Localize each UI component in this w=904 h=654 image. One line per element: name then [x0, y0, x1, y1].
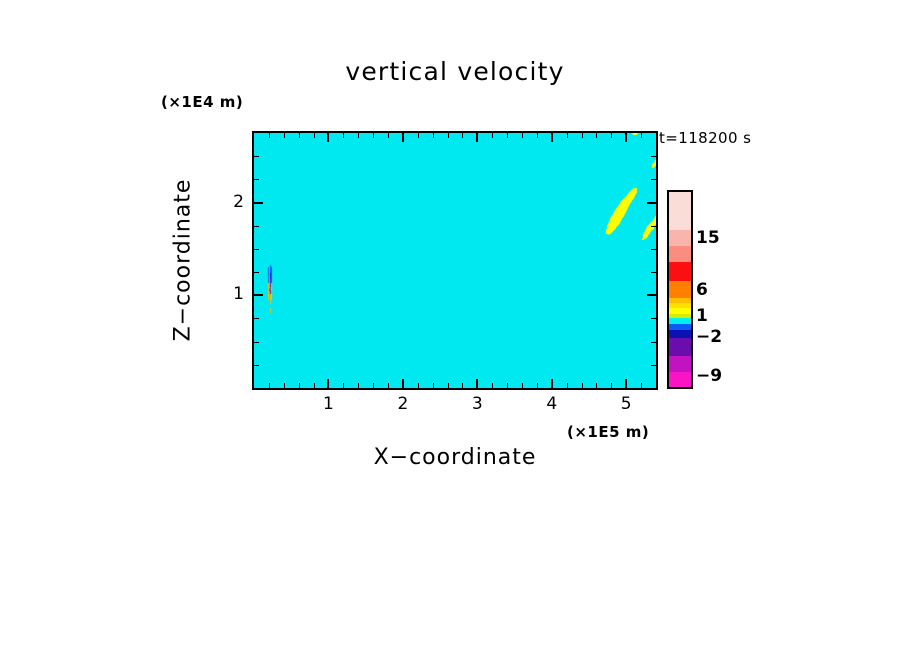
x-tick-major	[327, 379, 329, 388]
x-tick-top-minor	[537, 133, 538, 138]
x-tick-minor	[641, 383, 642, 388]
x-tick-top-minor	[358, 133, 359, 138]
y-tick-right-minor	[651, 156, 656, 157]
x-tick-top-minor	[596, 133, 597, 138]
x-tick-top-minor	[641, 133, 642, 138]
figure-canvas: vertical velocity (×1E4 m) (×1E5 m) t=11…	[0, 0, 904, 654]
x-tick-top-minor	[448, 133, 449, 138]
colorbar-tick-label: 6	[696, 280, 708, 300]
x-tick-minor	[269, 383, 270, 388]
x-tick-top-minor	[343, 133, 344, 138]
y-tick-right-minor	[651, 272, 656, 273]
y-tick-minor	[254, 318, 259, 319]
y-tick-minor	[254, 365, 259, 366]
colorbar-tick-label: −9	[696, 366, 722, 386]
page-title: vertical velocity	[252, 57, 658, 86]
contour-plot-area[interactable]	[252, 131, 658, 390]
x-tick-top-minor	[522, 133, 523, 138]
y-tick-major	[254, 202, 263, 204]
x-tick-top-major	[625, 133, 627, 142]
x-tick-top-major	[402, 133, 404, 142]
y-tick-right-minor	[651, 342, 656, 343]
y-tick-minor	[254, 342, 259, 343]
x-tick-top-minor	[611, 133, 612, 138]
x-tick-top-major	[476, 133, 478, 142]
y-axis-unit-label: (×1E4 m)	[161, 93, 243, 111]
y-tick-label: 1	[214, 284, 244, 304]
x-tick-top-minor	[462, 133, 463, 138]
colorbar-band	[669, 246, 691, 262]
x-tick-major	[551, 379, 553, 388]
x-tick-top-minor	[388, 133, 389, 138]
x-axis-title: X−coordinate	[252, 445, 658, 470]
colorbar[interactable]	[667, 190, 693, 389]
x-tick-label: 1	[313, 394, 343, 414]
colorbar-tick-label: 15	[696, 228, 720, 248]
x-tick-label: 4	[537, 394, 567, 414]
x-tick-top-minor	[284, 133, 285, 138]
x-tick-minor	[462, 383, 463, 388]
x-tick-minor	[596, 383, 597, 388]
x-tick-top-major	[551, 133, 553, 142]
x-tick-top-minor	[299, 133, 300, 138]
x-tick-minor	[448, 383, 449, 388]
x-tick-minor	[433, 383, 434, 388]
x-tick-major	[402, 379, 404, 388]
y-tick-right-minor	[651, 318, 656, 319]
colorbar-tick-label: −2	[696, 327, 722, 347]
x-tick-minor	[314, 383, 315, 388]
x-tick-minor	[507, 383, 508, 388]
y-tick-minor	[254, 156, 259, 157]
y-tick-label: 2	[214, 192, 244, 212]
x-tick-minor	[358, 383, 359, 388]
x-tick-minor	[582, 383, 583, 388]
colorbar-band	[669, 230, 691, 246]
x-tick-label: 2	[388, 394, 418, 414]
colorbar-band	[669, 330, 691, 338]
x-tick-top-minor	[582, 133, 583, 138]
x-axis-unit-label: (×1E5 m)	[567, 423, 649, 441]
x-tick-top-minor	[492, 133, 493, 138]
y-tick-minor	[254, 249, 259, 250]
x-tick-minor	[567, 383, 568, 388]
x-tick-minor	[299, 383, 300, 388]
x-tick-minor	[522, 383, 523, 388]
x-tick-minor	[537, 383, 538, 388]
x-tick-top-minor	[269, 133, 270, 138]
y-tick-minor	[254, 179, 259, 180]
y-tick-right-minor	[651, 179, 656, 180]
colorbar-band	[669, 372, 691, 387]
velocity-field-canvas	[254, 133, 656, 388]
x-tick-minor	[284, 383, 285, 388]
x-tick-major	[625, 379, 627, 388]
y-tick-right-minor	[651, 226, 656, 227]
colorbar-band	[669, 338, 691, 356]
y-tick-right-major	[647, 294, 656, 296]
x-tick-minor	[373, 383, 374, 388]
x-tick-top-minor	[418, 133, 419, 138]
x-tick-label: 3	[462, 394, 492, 414]
colorbar-tick-label: 1	[696, 306, 708, 326]
x-tick-label: 5	[611, 394, 641, 414]
x-tick-top-major	[327, 133, 329, 142]
x-tick-top-minor	[567, 133, 568, 138]
x-tick-top-minor	[433, 133, 434, 138]
x-tick-minor	[418, 383, 419, 388]
x-tick-top-minor	[373, 133, 374, 138]
y-tick-right-major	[647, 202, 656, 204]
colorbar-band	[669, 262, 691, 281]
colorbar-band	[669, 356, 691, 372]
x-tick-top-minor	[507, 133, 508, 138]
time-stamp-annotation: t=118200 s	[659, 129, 751, 147]
x-tick-minor	[343, 383, 344, 388]
y-tick-right-minor	[651, 249, 656, 250]
y-tick-minor	[254, 226, 259, 227]
y-tick-right-minor	[651, 365, 656, 366]
colorbar-band	[669, 192, 691, 230]
x-tick-minor	[492, 383, 493, 388]
y-tick-minor	[254, 272, 259, 273]
y-axis-title: Z−coordinate	[171, 179, 196, 342]
x-tick-major	[476, 379, 478, 388]
x-tick-minor	[388, 383, 389, 388]
x-tick-top-minor	[314, 133, 315, 138]
colorbar-band	[669, 281, 691, 297]
y-tick-major	[254, 294, 263, 296]
x-tick-minor	[611, 383, 612, 388]
